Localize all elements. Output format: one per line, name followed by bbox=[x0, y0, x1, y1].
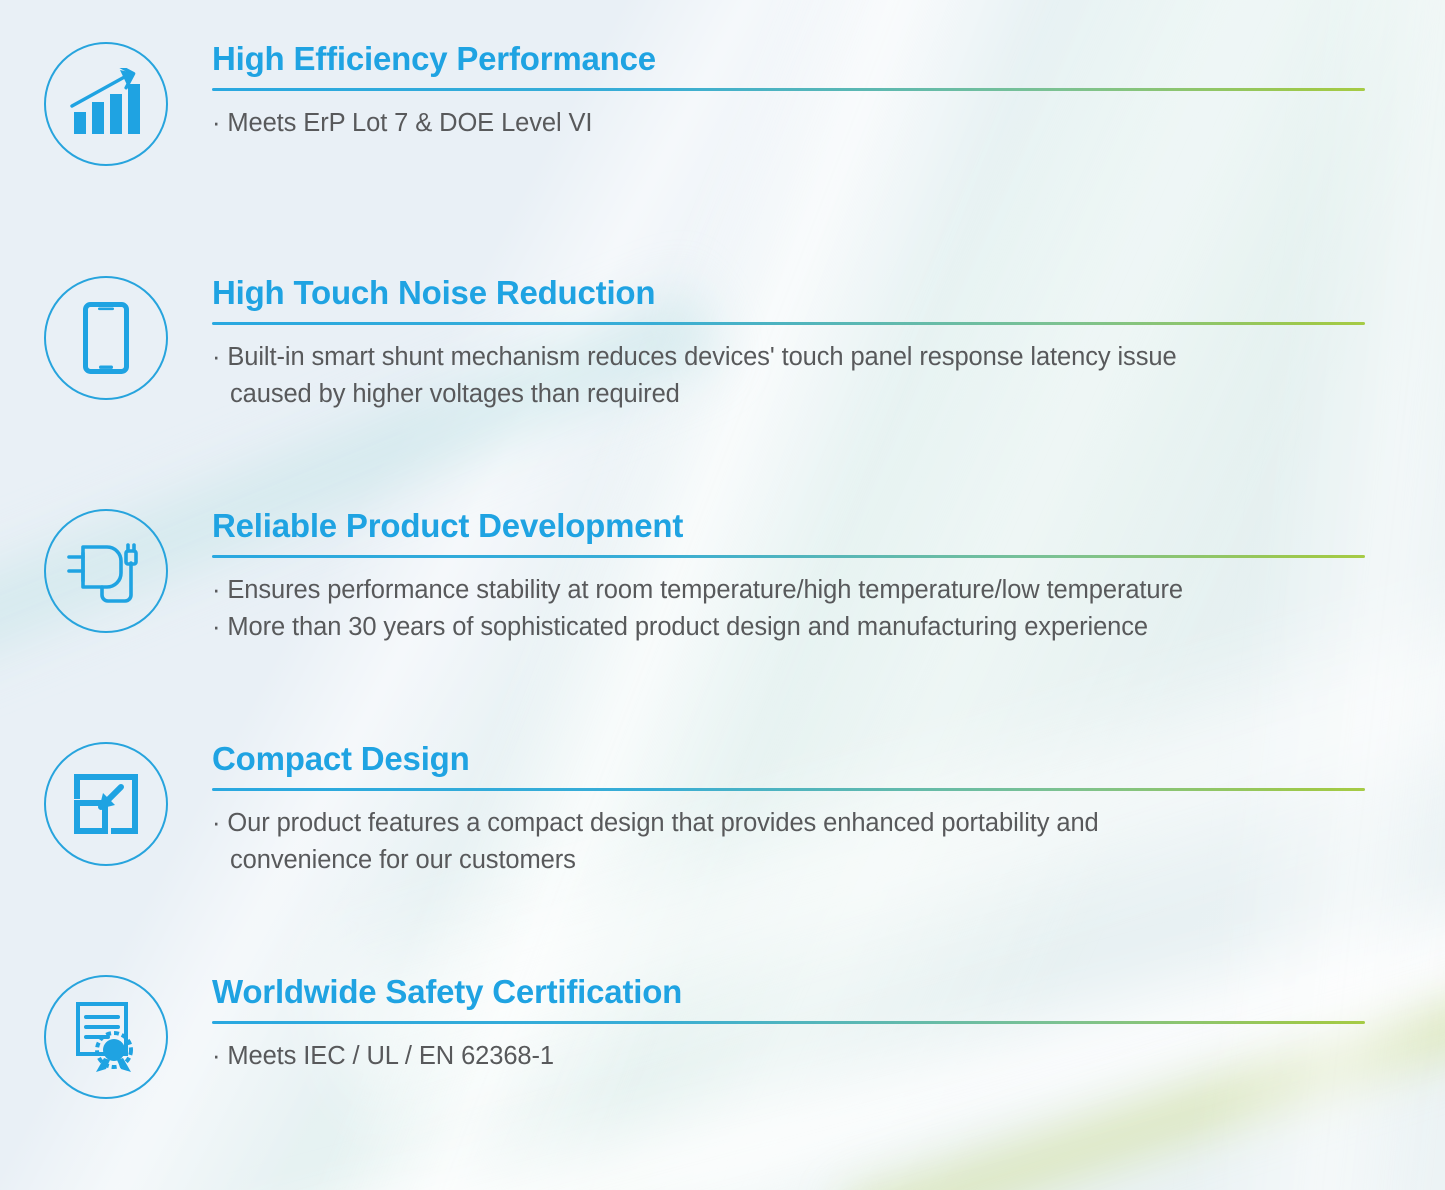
feature-content: Compact Design · Our product features a … bbox=[212, 742, 1445, 879]
feature-bullet: convenience for our customers bbox=[212, 842, 1365, 879]
feature-icon-container bbox=[0, 42, 212, 166]
power-adapter-icon bbox=[44, 509, 168, 633]
feature-item: High Efficiency Performance · Meets ErP … bbox=[0, 42, 1445, 166]
feature-content: High Touch Noise Reduction · Built-in sm… bbox=[212, 276, 1445, 413]
feature-bullet: · More than 30 years of sophisticated pr… bbox=[212, 609, 1365, 646]
compact-resize-icon bbox=[44, 742, 168, 866]
feature-divider bbox=[212, 1021, 1365, 1024]
feature-content: High Efficiency Performance · Meets ErP … bbox=[212, 42, 1445, 142]
feature-title: Worldwide Safety Certification bbox=[212, 975, 1365, 1010]
feature-bullet: · Ensures performance stability at room … bbox=[212, 572, 1365, 609]
feature-icon-container bbox=[0, 509, 212, 633]
feature-bullet: · Built-in smart shunt mechanism reduces… bbox=[212, 339, 1365, 376]
feature-bullet: · Meets ErP Lot 7 & DOE Level VI bbox=[212, 105, 1365, 142]
feature-bullets: · Meets ErP Lot 7 & DOE Level VI bbox=[212, 105, 1365, 142]
feature-bullets: · Built-in smart shunt mechanism reduces… bbox=[212, 339, 1365, 413]
feature-item: Worldwide Safety Certification · Meets I… bbox=[0, 975, 1445, 1099]
smartphone-icon bbox=[44, 276, 168, 400]
feature-icon-container bbox=[0, 975, 212, 1099]
feature-title: High Efficiency Performance bbox=[212, 42, 1365, 77]
bar-chart-growth-icon bbox=[44, 42, 168, 166]
feature-divider bbox=[212, 322, 1365, 325]
feature-title: High Touch Noise Reduction bbox=[212, 276, 1365, 311]
feature-bullet: · Our product features a compact design … bbox=[212, 805, 1365, 842]
feature-divider bbox=[212, 88, 1365, 91]
feature-divider bbox=[212, 555, 1365, 558]
feature-icon-container bbox=[0, 742, 212, 866]
feature-bullet: · Meets IEC / UL / EN 62368-1 bbox=[212, 1038, 1365, 1075]
feature-title: Reliable Product Development bbox=[212, 509, 1365, 544]
feature-content: Worldwide Safety Certification · Meets I… bbox=[212, 975, 1445, 1075]
feature-title: Compact Design bbox=[212, 742, 1365, 777]
feature-bullets: · Our product features a compact design … bbox=[212, 805, 1365, 879]
feature-highlights-page: High Efficiency Performance · Meets ErP … bbox=[0, 0, 1445, 1190]
feature-item: Compact Design · Our product features a … bbox=[0, 742, 1445, 879]
feature-item: Reliable Product Development · Ensures p… bbox=[0, 509, 1445, 646]
feature-bullet: caused by higher voltages than required bbox=[212, 376, 1365, 413]
feature-content: Reliable Product Development · Ensures p… bbox=[212, 509, 1445, 646]
feature-bullets: · Meets IEC / UL / EN 62368-1 bbox=[212, 1038, 1365, 1075]
feature-item: High Touch Noise Reduction · Built-in sm… bbox=[0, 276, 1445, 413]
feature-icon-container bbox=[0, 276, 212, 400]
certificate-award-icon bbox=[44, 975, 168, 1099]
feature-bullets: · Ensures performance stability at room … bbox=[212, 572, 1365, 646]
feature-divider bbox=[212, 788, 1365, 791]
